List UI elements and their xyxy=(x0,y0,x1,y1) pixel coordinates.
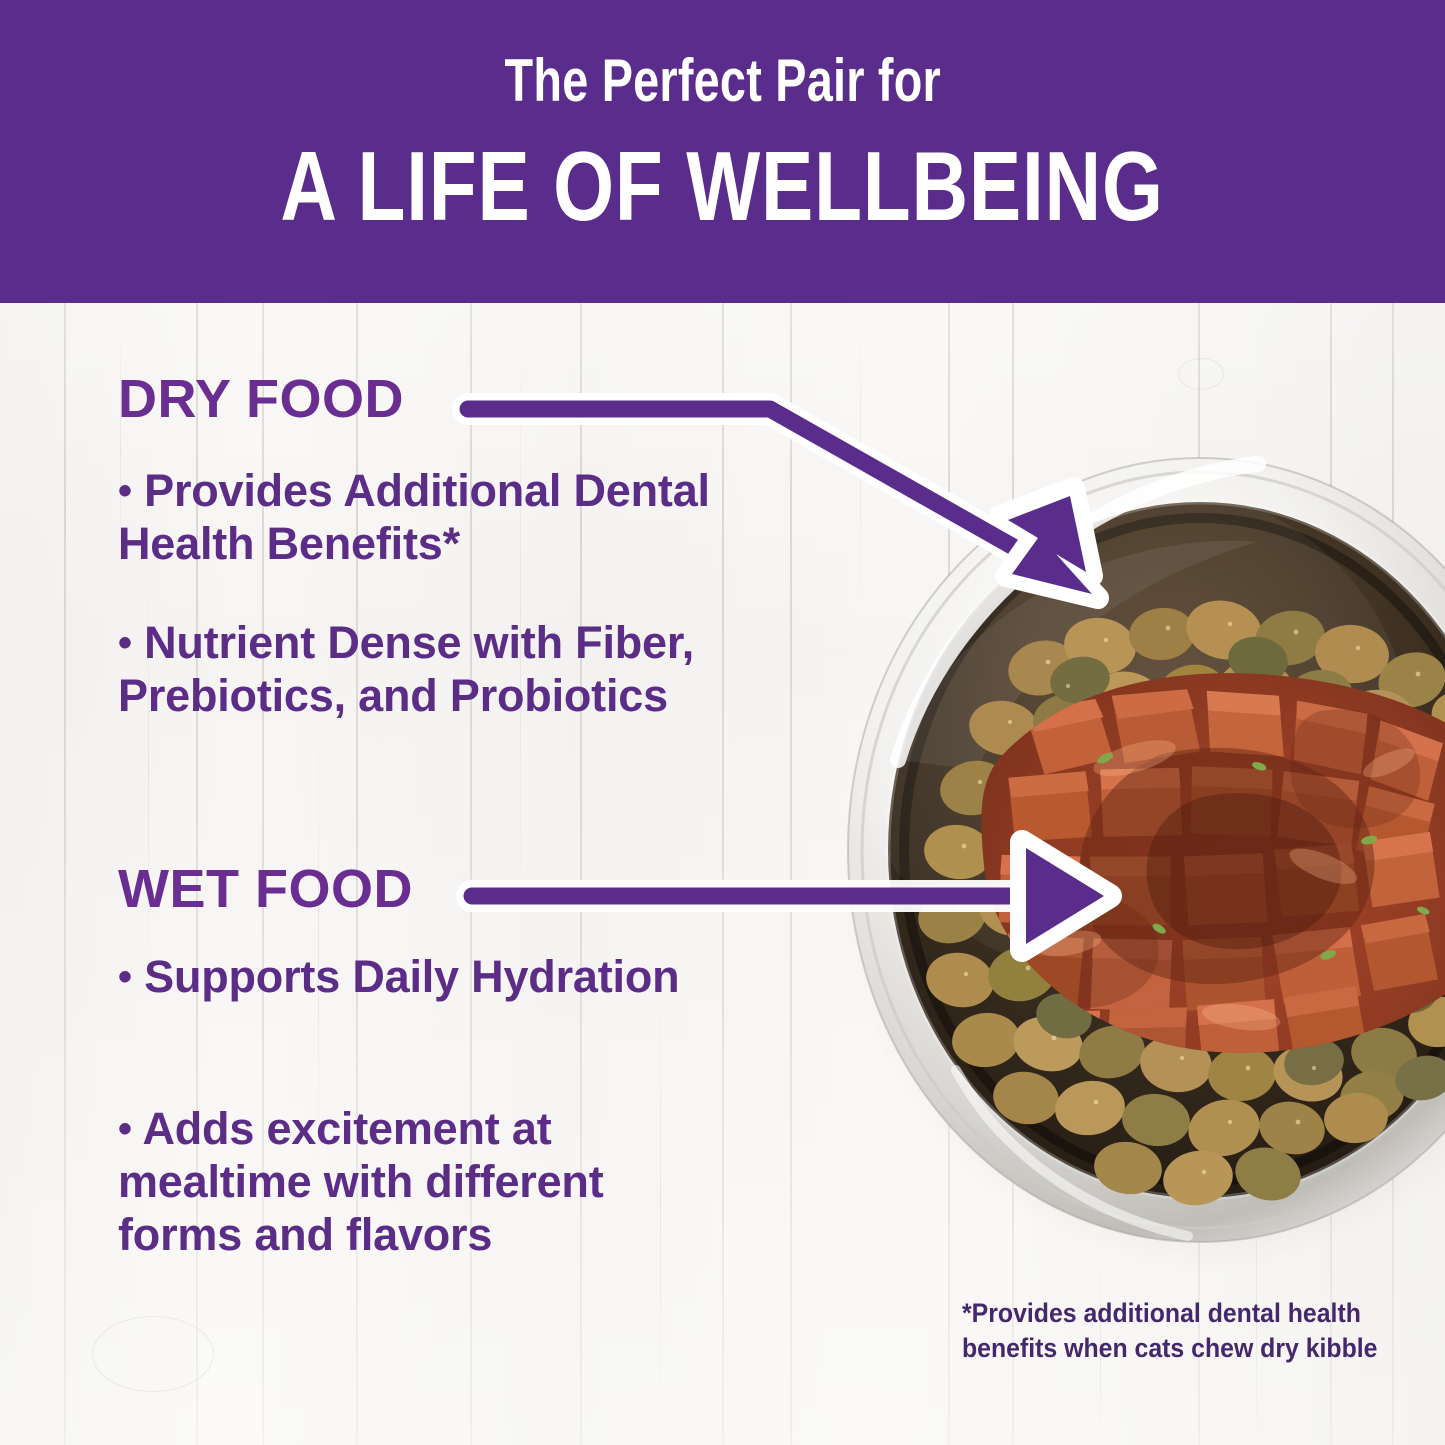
bullet-dot: • xyxy=(118,1107,132,1151)
list-item: • Supports Daily Hydration xyxy=(118,950,718,1003)
bullet-dot: • xyxy=(118,469,132,513)
product-benefits-infographic: The Perfect Pair for A LIFE OF WELLBEING xyxy=(0,0,1445,1445)
bullet-dot: • xyxy=(118,621,132,665)
dry-food-heading: DRY FOOD xyxy=(118,372,404,426)
list-item: • Provides Additional Dental Health Bene… xyxy=(118,464,798,570)
wet-food-heading: WET FOOD xyxy=(118,862,413,916)
list-item-label: Provides Additional Dental Health Benefi… xyxy=(118,465,710,569)
wood-knot xyxy=(92,1316,214,1392)
wet-food-section: WET FOOD • Supports Daily Hydration • Ad… xyxy=(118,862,413,916)
list-item-label: Adds excitement at mealtime with differe… xyxy=(118,1103,603,1260)
footnote-line-2: benefits when cats chew dry kibble xyxy=(962,1331,1348,1366)
bullet-dot: • xyxy=(118,955,132,999)
wood-knot xyxy=(1178,358,1224,390)
banner-subtitle: The Perfect Pair for xyxy=(504,51,940,111)
header-banner: The Perfect Pair for A LIFE OF WELLBEING xyxy=(0,0,1445,303)
banner-title: A LIFE OF WELLBEING xyxy=(281,135,1164,238)
dry-food-section: DRY FOOD • Provides Additional Dental He… xyxy=(118,372,404,426)
cat-food-bowl-photo xyxy=(828,430,1445,1270)
footnote-line-1: *Provides additional dental health xyxy=(962,1296,1348,1331)
list-item: • Adds excitement at mealtime with diffe… xyxy=(118,1102,738,1261)
list-item: • Nutrient Dense with Fiber, Prebiotics,… xyxy=(118,616,758,722)
list-item-label: Nutrient Dense with Fiber, Prebiotics, a… xyxy=(118,617,694,721)
footnote: *Provides additional dental health benef… xyxy=(962,1296,1348,1365)
list-item-label: Supports Daily Hydration xyxy=(144,951,679,1002)
